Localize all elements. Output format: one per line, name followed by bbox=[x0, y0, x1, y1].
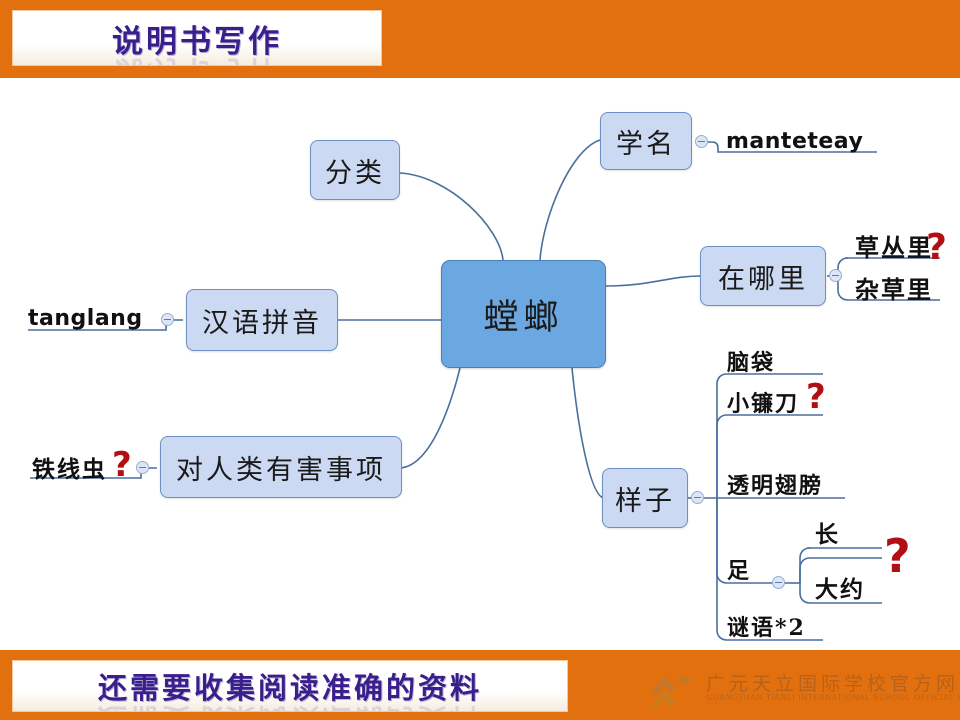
mindmap-node-yangzi-label: 样子 bbox=[615, 479, 675, 518]
mindmap-node-duirenlei[interactable]: 对人类有害事项 bbox=[160, 436, 402, 498]
mindmap-node-naodai[interactable]: 脑袋 bbox=[727, 347, 827, 375]
mindmap-node-yangzi[interactable]: 样子 bbox=[602, 468, 688, 528]
mindmap-node-tiexianchong[interactable]: 铁线虫 bbox=[32, 452, 124, 482]
collapse-toggle-zu[interactable] bbox=[772, 576, 785, 589]
mindmap-node-hanyupinyin[interactable]: 汉语拼音 bbox=[186, 289, 338, 351]
mindmap-node-zacaoli-label: 杂草里 bbox=[855, 270, 933, 305]
mindmap-node-dayue-label: 大约 bbox=[815, 570, 865, 604]
mindmap-node-tanglang-label: tanglang bbox=[28, 306, 143, 331]
mindmap-node-tanglang[interactable]: tanglang bbox=[28, 302, 168, 334]
site-watermark: 广元天立国际学校官方网站 GUANGYUAN TIANLI INTERNATIO… bbox=[648, 668, 952, 712]
mindmap-node-zu[interactable]: 足 bbox=[727, 555, 767, 583]
mindmap-diagram: 螳螂 分类 学名 manteteay 在哪里 草丛里 ? 杂草里 汉语拼音 bbox=[0, 78, 960, 650]
question-mark-icon-caocongli: ? bbox=[926, 230, 947, 266]
watermark-en-text: GUANGYUAN TIANLI INTERNATIONAL SCHOOL OF… bbox=[706, 693, 960, 702]
mindmap-node-xiaoliandao-label: 小镰刀 bbox=[727, 386, 799, 418]
mindmap-node-zainali[interactable]: 在哪里 bbox=[700, 246, 826, 306]
mindmap-node-tiexianchong-label: 铁线虫 bbox=[32, 450, 107, 484]
collapse-toggle-zainali[interactable] bbox=[829, 269, 842, 282]
mindmap-node-naodai-label: 脑袋 bbox=[727, 345, 775, 377]
mountain-logo-icon bbox=[648, 670, 698, 710]
watermark-cn-text: 广元天立国际学校官方网站 bbox=[706, 669, 960, 696]
collapse-toggle-yangzi[interactable] bbox=[691, 491, 704, 504]
mindmap-root-node[interactable]: 螳螂 bbox=[441, 260, 606, 368]
mindmap-node-chang-label: 长 bbox=[815, 515, 840, 549]
mindmap-node-zu-label: 足 bbox=[727, 553, 751, 585]
mindmap-root-label: 螳螂 bbox=[483, 289, 563, 340]
mindmap-node-manteteay[interactable]: manteteay bbox=[726, 124, 886, 158]
slide-canvas: 说明书写作 说明书写作 bbox=[0, 0, 960, 720]
mindmap-node-touminchibang-label: 透明翅膀 bbox=[727, 468, 823, 500]
mindmap-node-zainali-label: 在哪里 bbox=[718, 257, 808, 296]
footer-text-reflection: 还需要收集阅读准确的资料 bbox=[13, 700, 567, 712]
slide-title-plate: 说明书写作 说明书写作 bbox=[12, 10, 382, 66]
slide-footer-plate: 还需要收集阅读准确的资料 还需要收集阅读准确的资料 bbox=[12, 660, 568, 712]
question-mark-icon-xiaoliandao: ? bbox=[806, 380, 826, 414]
mindmap-node-hanyupinyin-label: 汉语拼音 bbox=[202, 301, 322, 340]
mindmap-node-fenlei-label: 分类 bbox=[325, 151, 385, 190]
mindmap-node-caocongli-label: 草丛里 bbox=[855, 228, 933, 263]
mindmap-node-zacaoli[interactable]: 杂草里 bbox=[855, 272, 951, 302]
mindmap-node-manteteay-label: manteteay bbox=[726, 129, 863, 154]
mindmap-node-touminchibang[interactable]: 透明翅膀 bbox=[727, 470, 857, 498]
mindmap-node-miyu[interactable]: 谜语*2 bbox=[727, 612, 837, 640]
collapse-toggle-xueming[interactable] bbox=[695, 135, 708, 148]
mindmap-node-xueming-label: 学名 bbox=[616, 122, 676, 161]
mindmap-node-dayue[interactable]: 大约 bbox=[815, 573, 887, 601]
mindmap-node-duirenlei-label: 对人类有害事项 bbox=[176, 448, 386, 487]
mindmap-node-miyu-label: 谜语*2 bbox=[727, 610, 806, 642]
mindmap-node-fenlei[interactable]: 分类 bbox=[310, 140, 400, 200]
collapse-toggle-duirenlei[interactable] bbox=[136, 461, 149, 474]
mindmap-node-chang[interactable]: 长 bbox=[815, 518, 865, 546]
mindmap-node-xueming[interactable]: 学名 bbox=[600, 112, 692, 170]
page-title-reflection: 说明书写作 bbox=[13, 52, 381, 66]
question-mark-icon-tiexianchong: ? bbox=[112, 448, 132, 482]
question-mark-icon-dayue: ? bbox=[884, 533, 911, 579]
